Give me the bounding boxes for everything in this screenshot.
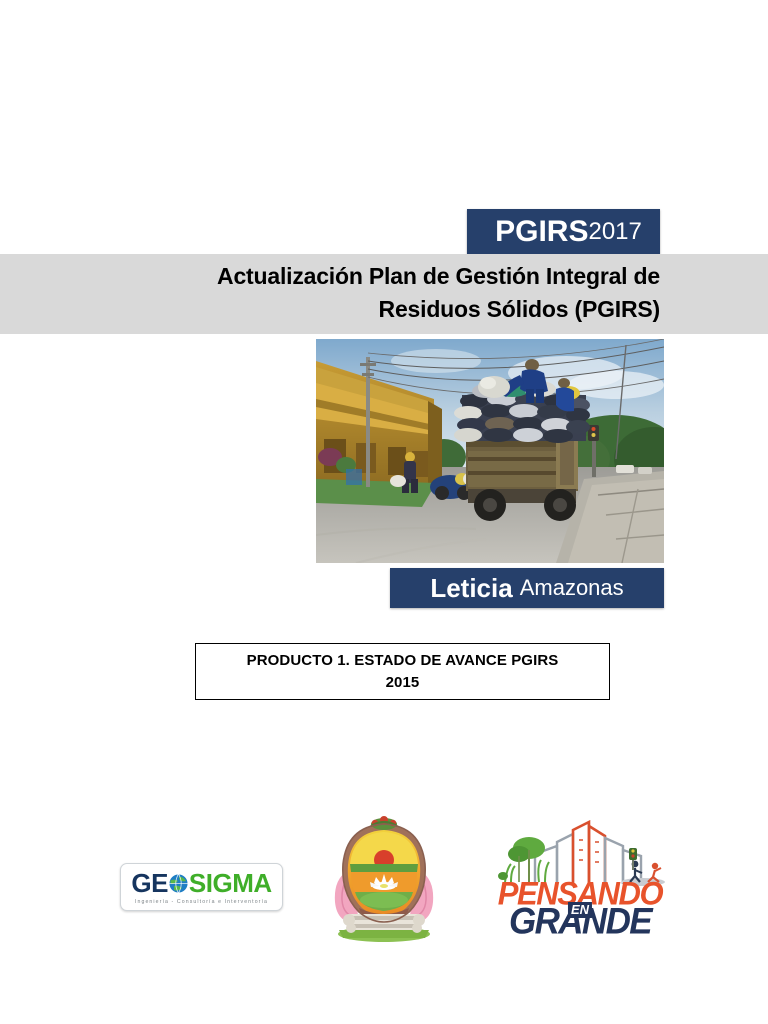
product-title-line-2: 2015 [386,672,420,694]
title-band: Actualización Plan de Gestión Integral d… [0,254,768,334]
document-cover-page: PGIRS 2017 Actualización Plan de Gestión… [0,0,768,1024]
pgirs-badge-main-label: PGIRS [495,217,588,247]
product-title-box: PRODUCTO 1. ESTADO DE AVANCE PGIRS 2015 [195,643,610,700]
geosigma-geo-text: GE [131,870,168,896]
page-title: Actualización Plan de Gestión Integral d… [60,260,660,326]
logo-row: GE SIGMA Ingeniería - Consultoría e [0,808,768,958]
cover-photograph [316,339,664,563]
page-title-line-2: Residuos Sólidos (PGIRS) [60,293,660,326]
product-title-line-1: PRODUCTO 1. ESTADO DE AVANCE PGIRS [247,650,559,672]
pensando-en-word: EN [568,902,592,918]
amazonas-coat-of-arms [325,816,443,944]
geosigma-sigma-text: SIGMA [189,870,272,896]
globe-icon [168,873,189,894]
page-title-line-1: Actualización Plan de Gestión Integral d… [60,260,660,293]
location-department-label: Amazonas [520,577,624,599]
geosigma-logo: GE SIGMA Ingeniería - Consultoría e [120,863,283,911]
pensando-en-grande-logo: PENSANDO EN GRANDE [495,820,665,942]
pgirs-badge-year-label: 2017 [588,220,641,244]
pgirs-year-badge: PGIRS 2017 [467,209,660,254]
location-city-label: Leticia [430,575,512,601]
geosigma-tagline: Ingeniería - Consultoría e Interventoría [135,899,268,905]
location-banner: Leticia Amazonas [390,568,664,608]
geosigma-wordmark: GE SIGMA [131,870,271,896]
